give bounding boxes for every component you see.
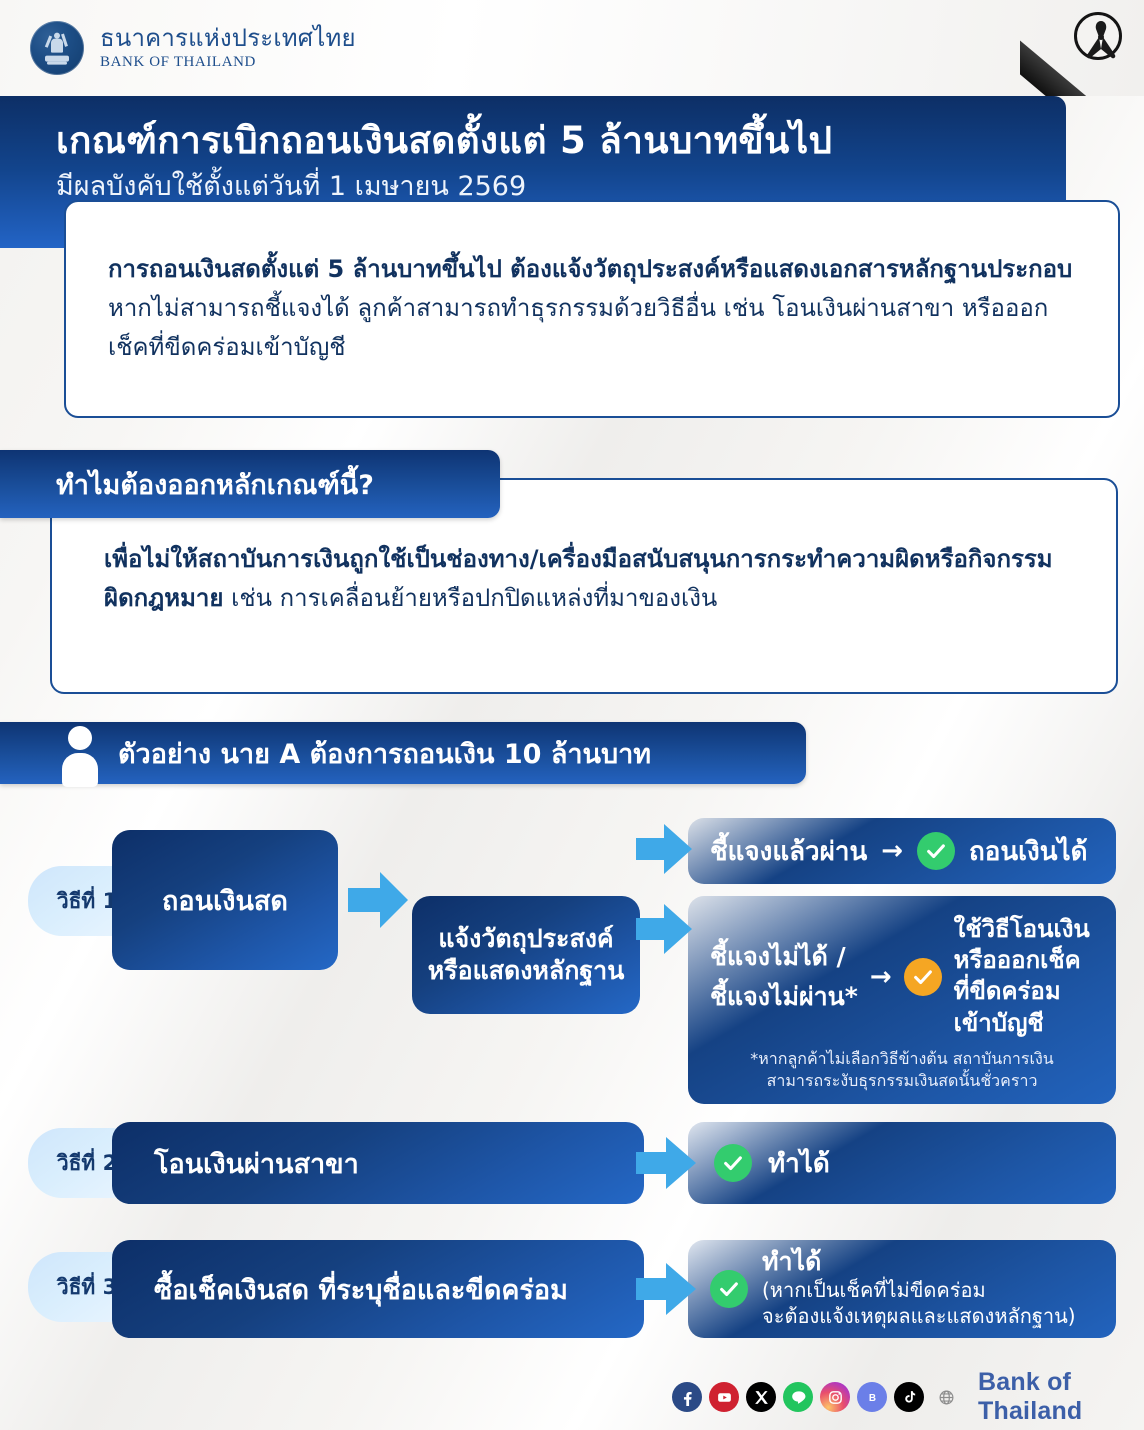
svg-text:B: B [868, 1393, 875, 1404]
fail-arrow-glyph: → [870, 962, 892, 992]
rule-card: การถอนเงินสดตั้งแต่ 5 ล้านบาทขึ้นไป ต้อง… [64, 200, 1120, 418]
line-icon[interactable] [783, 1382, 813, 1412]
bot-seal-icon [30, 21, 84, 75]
fail-result-line-2: หรือออกเช็ค [954, 945, 1090, 976]
arrow-method-3 [636, 1258, 698, 1320]
page-title: เกณฑ์การเบิกถอนเงินสดตั้งแต่ 5 ล้านบาทขึ… [56, 118, 1066, 164]
tiktok-icon[interactable] [894, 1382, 924, 1412]
blockdit-icon[interactable]: B [857, 1382, 887, 1412]
youtube-icon[interactable] [709, 1382, 739, 1412]
method-2-outcome[interactable]: ทำได้ [688, 1122, 1116, 1204]
pass-result-label: ถอนเงินได้ [969, 831, 1087, 872]
fail-footnote-line-2: สามารถระงับธุรกรรมเงินสดนั้นชั่วคราว [688, 1070, 1116, 1092]
orange-check-icon [904, 958, 942, 996]
method-1-step-2-line-1: แจ้งวัตถุประสงค์ [438, 923, 613, 956]
method-2-step-1[interactable]: โอนเงินผ่านสาขา [112, 1122, 644, 1204]
example-header-tab: ตัวอย่าง นาย A ต้องการถอนเงิน 10 ล้านบาท [0, 722, 806, 784]
rule-bold-text: การถอนเงินสดตั้งแต่ 5 ล้านบาทขึ้นไป ต้อง… [108, 255, 1072, 283]
arrow-to-pass-outcome [636, 820, 694, 878]
method-1-outcome-pass[interactable]: ชี้แจงแล้วผ่าน → ถอนเงินได้ [688, 818, 1116, 884]
fail-result-line-4: เข้าบัญชี [954, 1008, 1090, 1039]
green-check-icon [710, 1270, 748, 1308]
pass-arrow-glyph: → [881, 836, 903, 866]
arrow-step1-to-step2 [348, 866, 410, 934]
method-1-outcome-fail[interactable]: ชี้แจงไม่ได้ / ชี้แจงไม่ผ่าน* → ใช้วิธีโ… [688, 896, 1116, 1104]
method-1-step-1[interactable]: ถอนเงินสด [112, 830, 338, 970]
why-section-tab: ทำไมต้องออกหลักเกณฑ์นี้? [0, 450, 500, 518]
green-check-icon [714, 1144, 752, 1182]
brand-name-english: BANK OF THAILAND [100, 54, 356, 71]
globe-icon[interactable] [931, 1382, 961, 1412]
person-icon [60, 726, 100, 782]
arrow-to-fail-outcome [636, 900, 694, 958]
green-check-icon [917, 832, 955, 870]
method-1-step-2[interactable]: แจ้งวัตถุประสงค์ หรือแสดงหลักฐาน [412, 896, 640, 1014]
fail-result-line-1: ใช้วิธีโอนเงิน [954, 914, 1090, 945]
page-subtitle: มีผลบังคับใช้ตั้งแต่วันที่ 1 เมษายน 2569 [56, 170, 1066, 204]
facebook-icon[interactable] [672, 1382, 702, 1412]
footer-social-bar: B Bank of Thailand [672, 1368, 1144, 1426]
arrow-method-2 [636, 1132, 698, 1194]
instagram-icon[interactable] [820, 1382, 850, 1412]
method-2-result-label: ทำได้ [768, 1143, 830, 1184]
brand-name-thai: ธนาคารแห่งประเทศไทย [100, 25, 356, 51]
x-twitter-icon[interactable] [746, 1382, 776, 1412]
footer-brand-name: Bank of Thailand [978, 1368, 1144, 1426]
method-3-note-line-2: จะต้องแจ้งเหตุผลและแสดงหลักฐาน) [762, 1303, 1076, 1330]
method-3-note-line-1: (หากเป็นเช็คที่ไม่ขีดคร่อม [762, 1277, 1076, 1304]
fail-condition-line-1: ชี้แจงไม่ได้ / [710, 937, 858, 977]
fail-footnote-line-1: *หากลูกค้าไม่เลือกวิธีข้างต้น สถาบันการเ… [688, 1048, 1116, 1070]
method-3-step-1[interactable]: ซื้อเช็คเงินสด ที่ระบุชื่อและขีดคร่อม [112, 1240, 644, 1338]
fail-result-line-3: ที่ขีดคร่อม [954, 976, 1090, 1007]
why-normal-text: เช่น การเคลื่อนย้ายหรือปกปิดแหล่งที่มาขอ… [223, 584, 717, 612]
method-1-step-2-line-2: หรือแสดงหลักฐาน [428, 955, 625, 988]
rule-normal-text: หากไม่สามารถชี้แจงได้ ลูกค้าสามารถทำธุรก… [108, 294, 1048, 361]
pass-condition-label: ชี้แจงแล้วผ่าน [710, 831, 867, 872]
fail-condition-line-2: ชี้แจงไม่ผ่าน* [710, 977, 858, 1017]
method-3-result-label: ทำได้ [762, 1248, 1076, 1277]
method-3-outcome[interactable]: ทำได้ (หากเป็นเช็คที่ไม่ขีดคร่อม จะต้องแ… [688, 1240, 1116, 1338]
brand-header: ธนาคารแห่งประเทศไทย BANK OF THAILAND [0, 0, 1144, 96]
